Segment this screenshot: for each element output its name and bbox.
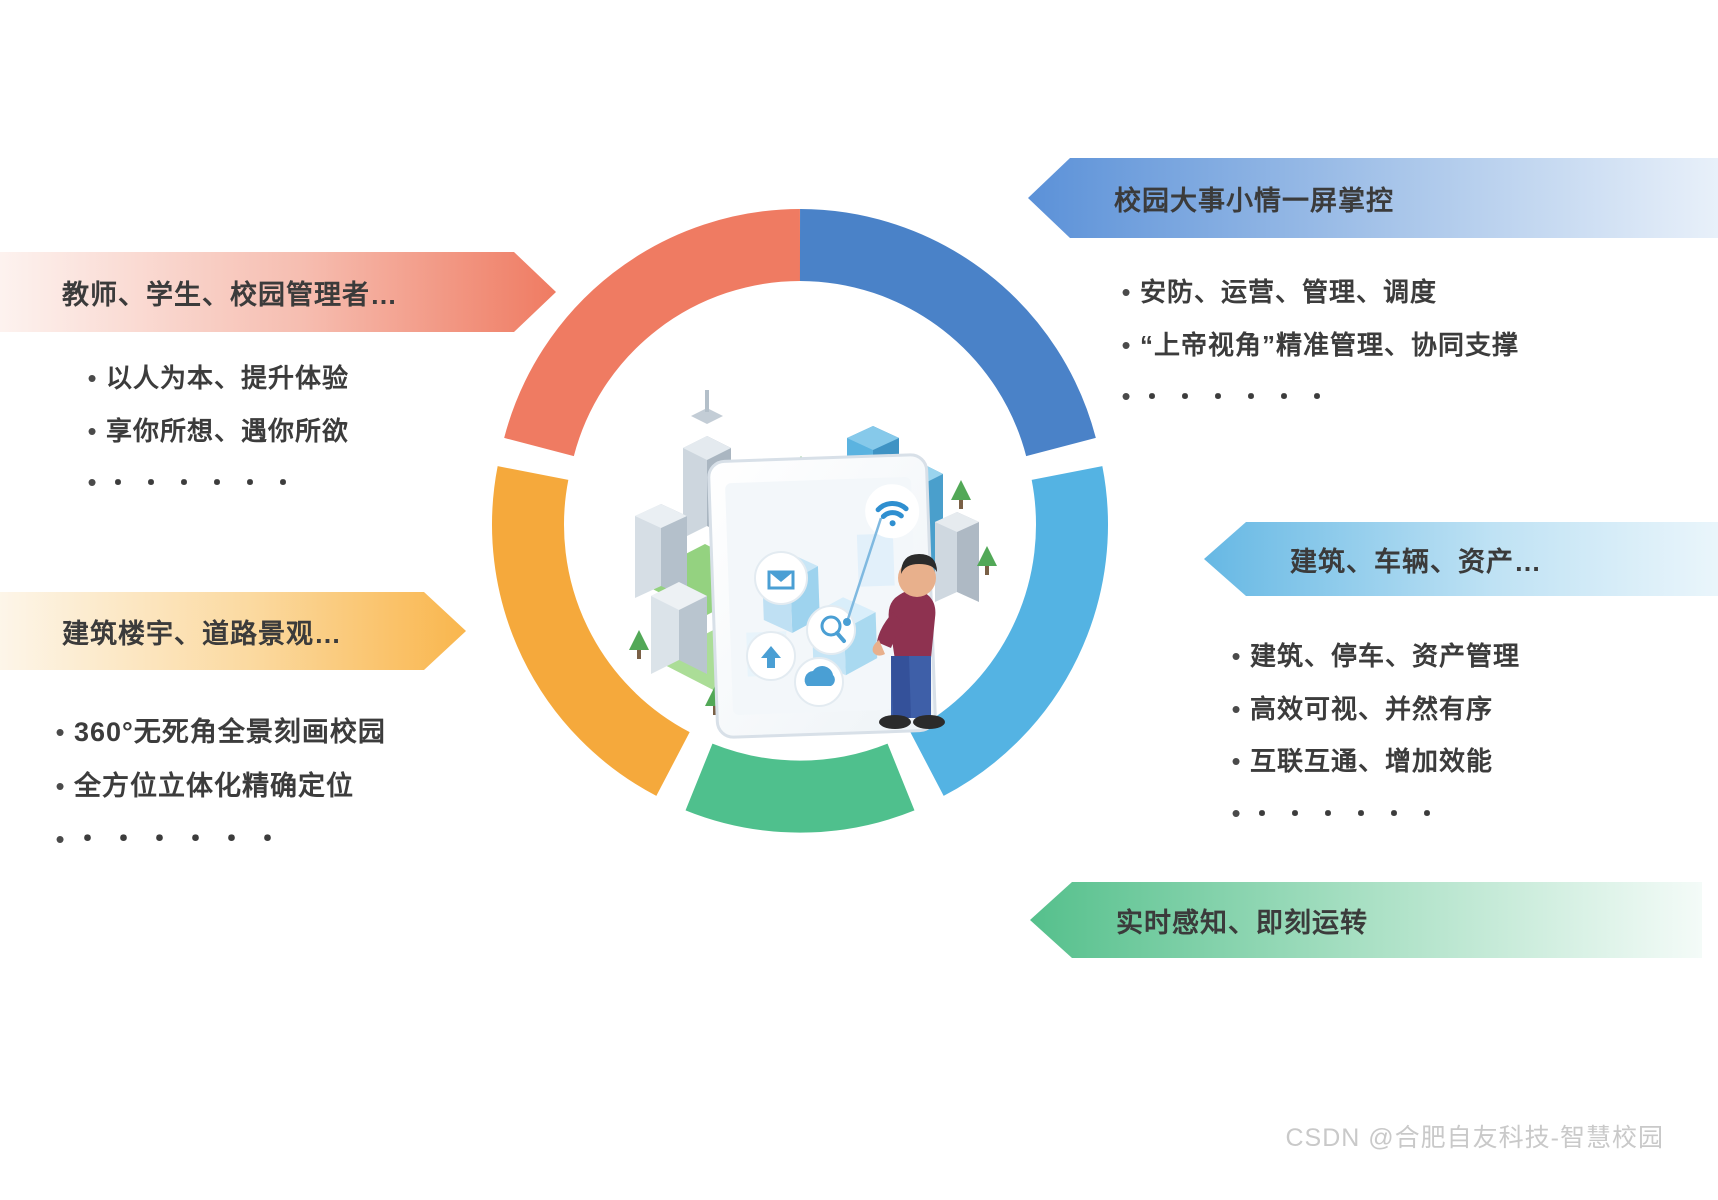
ring-label-matter: 物	[1043, 792, 1123, 832]
bullet-text: “上帝视角”精准管理、协同支撑	[1140, 331, 1519, 360]
bullet-text: 互联互通、增加效能	[1250, 747, 1493, 776]
bullet-list-event: • 安防、运营、管理、调度 • “上帝视角”精准管理、协同支撑 • ・・・・・・	[1112, 278, 1519, 436]
bullet-text: ・・・・・・	[106, 471, 304, 497]
list-item: • 360°无死角全景刻画校园	[46, 718, 386, 748]
list-item: • 建筑、停车、资产管理	[1222, 642, 1520, 671]
slide-canvas: 人 事 物 时 地	[0, 0, 1718, 1200]
banner-event: 校园大事小情一屏掌控	[1028, 158, 1718, 238]
ring-label-place: 地	[477, 792, 557, 832]
bullet-text: 建筑、停车、资产管理	[1250, 642, 1520, 671]
banner-people-label: 教师、学生、校园管理者…	[62, 273, 398, 312]
bullet-text: ・・・・・・	[74, 825, 290, 855]
bullet-text: 全方位立体化精确定位	[74, 772, 354, 802]
banner-people: 教师、学生、校园管理者…	[0, 252, 556, 332]
bullet-dot: •	[1222, 748, 1250, 774]
ring-segment-time	[699, 777, 901, 797]
bullet-list-people: • 以人为本、提升体验 • 享你所想、遇你所欲 • ・・・・・・	[78, 364, 349, 522]
list-item: • 以人为本、提升体验	[78, 364, 349, 393]
banner-matter: 建筑、车辆、资产…	[1204, 522, 1718, 596]
list-item: • 高效可视、并然有序	[1222, 695, 1520, 724]
list-item: • ・・・・・・	[1222, 800, 1520, 828]
banner-place: 建筑楼宇、道路景观…	[0, 592, 466, 670]
bullet-dot: •	[1112, 383, 1140, 409]
smart-campus-illustration	[595, 330, 1015, 750]
banner-event-label: 校园大事小情一屏掌控	[1114, 179, 1394, 218]
banner-place-label: 建筑楼宇、道路景观…	[62, 612, 342, 651]
banner-time: 实时感知、即刻运转	[1030, 882, 1702, 958]
banner-matter-label: 建筑、车辆、资产…	[1290, 540, 1542, 579]
bullet-dot: •	[1222, 800, 1250, 826]
bullet-text: 高效可视、并然有序	[1250, 695, 1493, 724]
bullet-list-place: • 360°无死角全景刻画校园 • 全方位立体化精确定位 • ・・・・・・	[46, 718, 386, 879]
bullet-dot: •	[46, 826, 74, 852]
bullet-dot: •	[78, 469, 106, 495]
bullet-dot: •	[78, 365, 106, 391]
list-item: • ・・・・・・	[1112, 383, 1519, 411]
bullet-dot: •	[1222, 643, 1250, 669]
bullet-dot: •	[46, 773, 74, 799]
bullet-text: ・・・・・・	[1140, 385, 1338, 411]
ring-label-time: 时	[761, 1022, 841, 1062]
list-item: • ・・・・・・	[46, 825, 386, 855]
bullet-text: ・・・・・・	[1250, 802, 1448, 828]
bullet-dot: •	[46, 719, 74, 745]
csdn-watermark: CSDN @合肥自友科技-智慧校园	[1286, 1118, 1665, 1154]
bullet-text: 360°无死角全景刻画校园	[74, 718, 386, 748]
list-item: • 享你所想、遇你所欲	[78, 417, 349, 446]
bullet-text: 享你所想、遇你所欲	[106, 417, 349, 446]
bullet-dot: •	[1112, 279, 1140, 305]
list-item: • 全方位立体化精确定位	[46, 772, 386, 802]
bullet-list-matter: • 建筑、停车、资产管理 • 高效可视、并然有序 • 互联互通、增加效能 • ・…	[1222, 642, 1520, 852]
list-item: • 安防、运营、管理、调度	[1112, 278, 1519, 307]
bullet-dot: •	[1222, 696, 1250, 722]
bullet-dot: •	[1112, 332, 1140, 358]
list-item: • “上帝视角”精准管理、协同支撑	[1112, 331, 1519, 360]
bullet-dot: •	[78, 418, 106, 444]
bullet-text: 以人为本、提升体验	[106, 364, 349, 393]
banner-time-label: 实时感知、即刻运转	[1116, 901, 1368, 940]
list-item: • ・・・・・・	[78, 469, 349, 497]
list-item: • 互联互通、增加效能	[1222, 747, 1520, 776]
bullet-text: 安防、运营、管理、调度	[1140, 278, 1437, 307]
